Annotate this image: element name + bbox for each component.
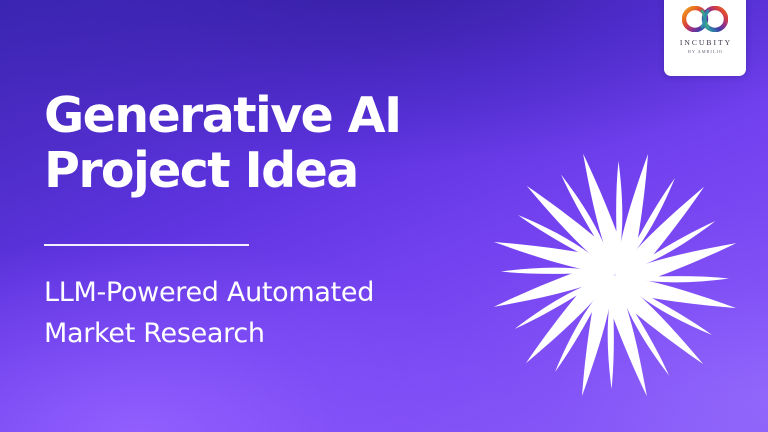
background-noise-texture	[0, 0, 768, 432]
infinity-logo-icon	[682, 6, 728, 32]
page-title-line-2: Project Idea	[44, 143, 464, 198]
page-subtitle: LLM-Powered Automated Market Research	[44, 272, 474, 354]
brand-logo-card[interactable]: INCUBITY BY AMBILIO	[664, 0, 746, 76]
page-title: Generative AI Project Idea	[44, 88, 464, 198]
brand-tagline: BY AMBILIO	[687, 50, 723, 54]
page-subtitle-line-2: Market Research	[44, 313, 474, 354]
brand-name: INCUBITY	[678, 39, 732, 47]
page-title-line-1: Generative AI	[44, 88, 464, 143]
title-divider	[44, 244, 249, 246]
page-subtitle-line-1: LLM-Powered Automated	[44, 272, 474, 313]
slide-canvas: INCUBITY BY AMBILIO Generative AI Projec…	[0, 0, 768, 432]
